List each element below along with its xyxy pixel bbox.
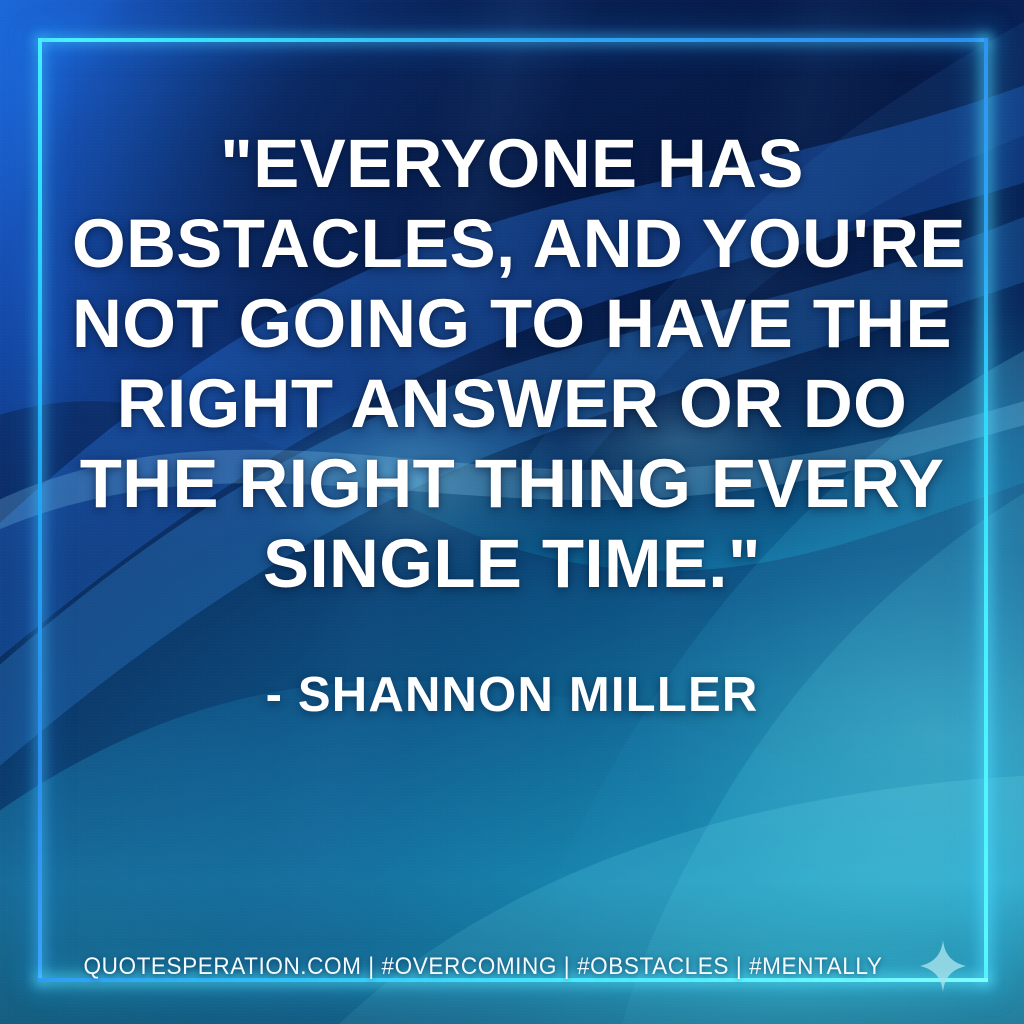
quote-line: THE RIGHT THING EVERY: [72, 444, 952, 524]
quote-poster: "EVERYONE HAS OBSTACLES, AND YOU'RE NOT …: [0, 0, 1024, 1024]
quote-line: RIGHT ANSWER OR DO: [72, 364, 952, 444]
footer-bar: QUOTESPERATION.COM | #OVERCOMING | #OBST…: [0, 947, 1024, 987]
quote-line: "EVERYONE HAS: [72, 124, 952, 204]
footer-credits-text: QUOTESPERATION.COM | #OVERCOMING | #OBST…: [84, 953, 883, 981]
sparkle-icon: [920, 940, 966, 992]
quote-text: "EVERYONE HAS OBSTACLES, AND YOU'RE NOT …: [72, 0, 952, 604]
poster-content: "EVERYONE HAS OBSTACLES, AND YOU'RE NOT …: [0, 0, 1024, 1024]
quote-line: NOT GOING TO HAVE THE: [72, 284, 952, 364]
quote-attribution: - SHANNON MILLER: [72, 604, 952, 724]
quote-line: OBSTACLES, AND YOU'RE: [72, 204, 952, 284]
quote-line: SINGLE TIME.": [72, 524, 952, 604]
